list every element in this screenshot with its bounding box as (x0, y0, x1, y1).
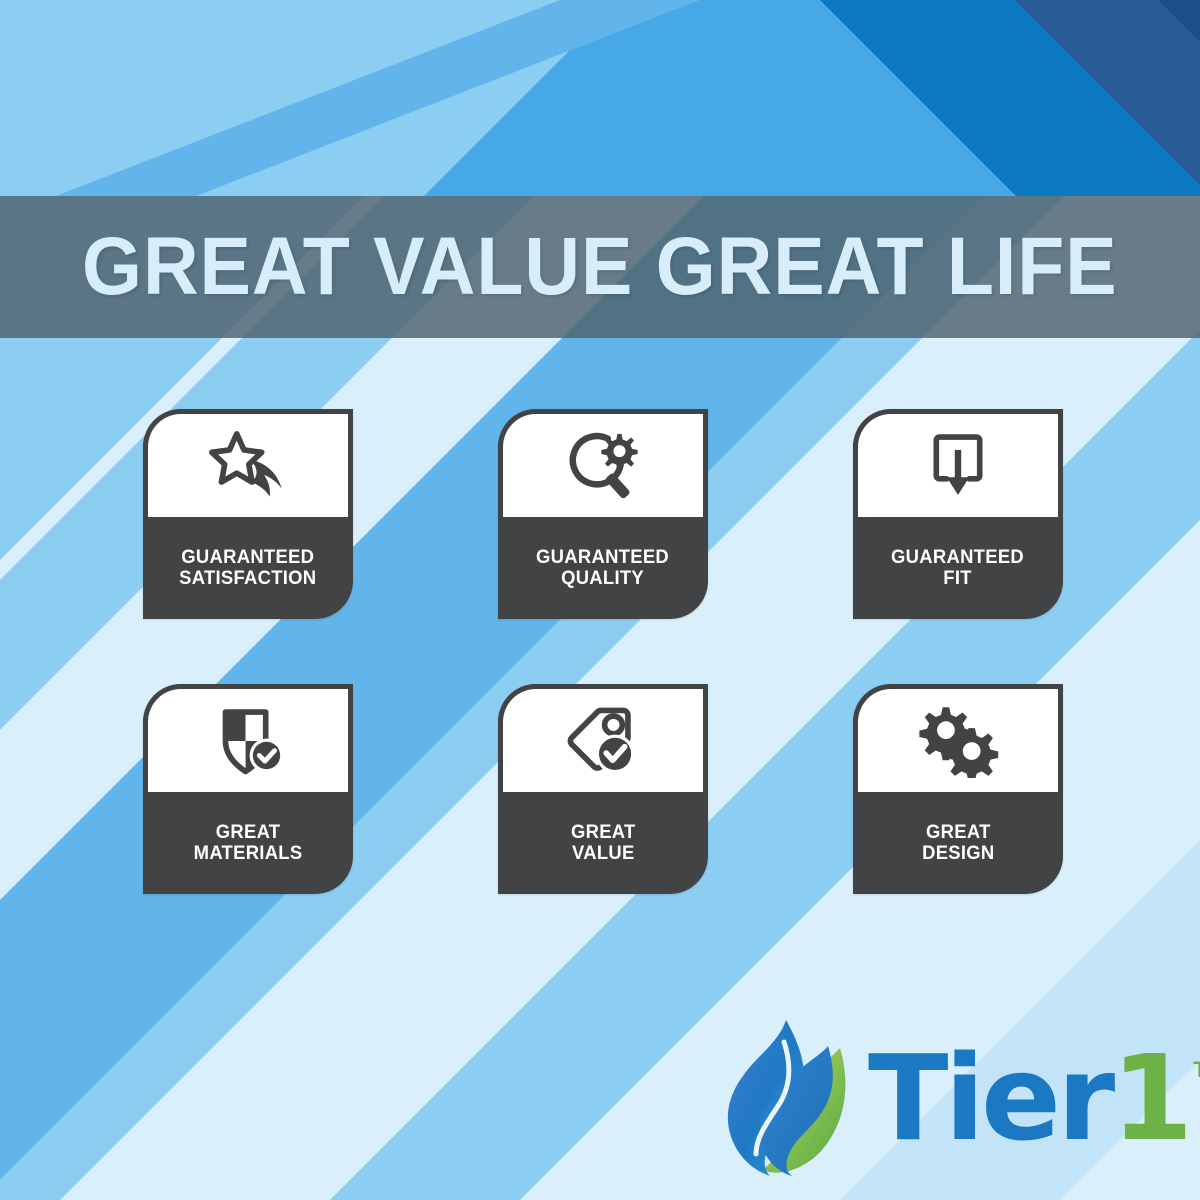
badge-label: GUARANTEED SATISFACTION (179, 547, 316, 590)
badge-label: GREAT DESIGN (922, 822, 994, 865)
badge-icon-panel (853, 409, 1063, 517)
badge-label-line1: GUARANTEED (537, 547, 670, 568)
gear-shape (601, 433, 637, 469)
headline-banner: GREAT VALUE GREAT LIFE (0, 196, 1200, 338)
badge-label-line2: FIT (944, 568, 973, 589)
badge-label-panel: GUARANTEED SATISFACTION (143, 517, 353, 619)
gear-small (945, 728, 998, 778)
badge-label-line2: QUALITY (562, 568, 645, 589)
benefits-badge-grid: GUARANTEED SATISFACTION GUARAN (143, 409, 1073, 894)
tier1-logo: Tier 1 TM (712, 1018, 1172, 1178)
badge-label-panel: GREAT MATERIALS (143, 792, 353, 894)
badge-label-line1: GREAT (571, 822, 636, 843)
price-tag-check-icon (561, 704, 645, 778)
badge-label-line2: MATERIALS (194, 843, 303, 864)
badge-icon-panel (853, 684, 1063, 792)
badge-great-design: GREAT DESIGN (853, 684, 1063, 894)
badge-label-panel: GUARANTEED QUALITY (498, 517, 708, 619)
badge-icon-panel (143, 409, 353, 517)
poster-canvas: GREAT VALUE GREAT LIFE GUARANTEED SATISF… (0, 0, 1200, 1200)
badge-label-line2: DESIGN (922, 843, 994, 864)
badge-great-materials: GREAT MATERIALS (143, 684, 353, 894)
trademark-symbol: TM (1193, 1057, 1200, 1083)
badge-label: GREAT VALUE (571, 822, 636, 865)
badge-label-line1: GREAT (926, 822, 991, 843)
magnifier-gear-icon (561, 429, 645, 503)
logo-wordmark: Tier 1 TM (868, 1039, 1200, 1157)
badge-guaranteed-fit: GUARANTEED FIT (853, 409, 1063, 619)
shooting-star-icon (206, 429, 290, 503)
download-arrow-icon (916, 429, 1000, 503)
badge-label-panel: GREAT DESIGN (853, 792, 1063, 894)
flame-leaf-droplet-icon (712, 1018, 862, 1178)
badge-label-line2: SATISFACTION (179, 568, 316, 589)
gears-icon (916, 704, 1000, 778)
star-trail (250, 459, 281, 496)
badge-icon-panel (498, 684, 708, 792)
badge-label-panel: GREAT VALUE (498, 792, 708, 894)
badge-label-line1: GUARANTEED (892, 547, 1025, 568)
logo-word-tier: Tier (868, 1039, 1111, 1157)
badge-guaranteed-quality: GUARANTEED QUALITY (498, 409, 708, 619)
badge-guaranteed-satisfaction: GUARANTEED SATISFACTION (143, 409, 353, 619)
badge-icon-panel (143, 684, 353, 792)
badge-label: GUARANTEED QUALITY (537, 547, 670, 590)
badge-label: GUARANTEED FIT (892, 547, 1025, 590)
badge-label-panel: GUARANTEED FIT (853, 517, 1063, 619)
badge-label: GREAT MATERIALS (194, 822, 303, 865)
badge-label-line1: GREAT (216, 822, 281, 843)
badge-label-line2: VALUE (572, 843, 635, 864)
shield-check-icon (206, 704, 290, 778)
badge-label-line1: GUARANTEED (182, 547, 315, 568)
logo-numeral-one: 1 (1111, 1039, 1191, 1157)
badge-icon-panel (498, 409, 708, 517)
page-title: GREAT VALUE GREAT LIFE (82, 226, 1118, 308)
badge-great-value: GREAT VALUE (498, 684, 708, 894)
